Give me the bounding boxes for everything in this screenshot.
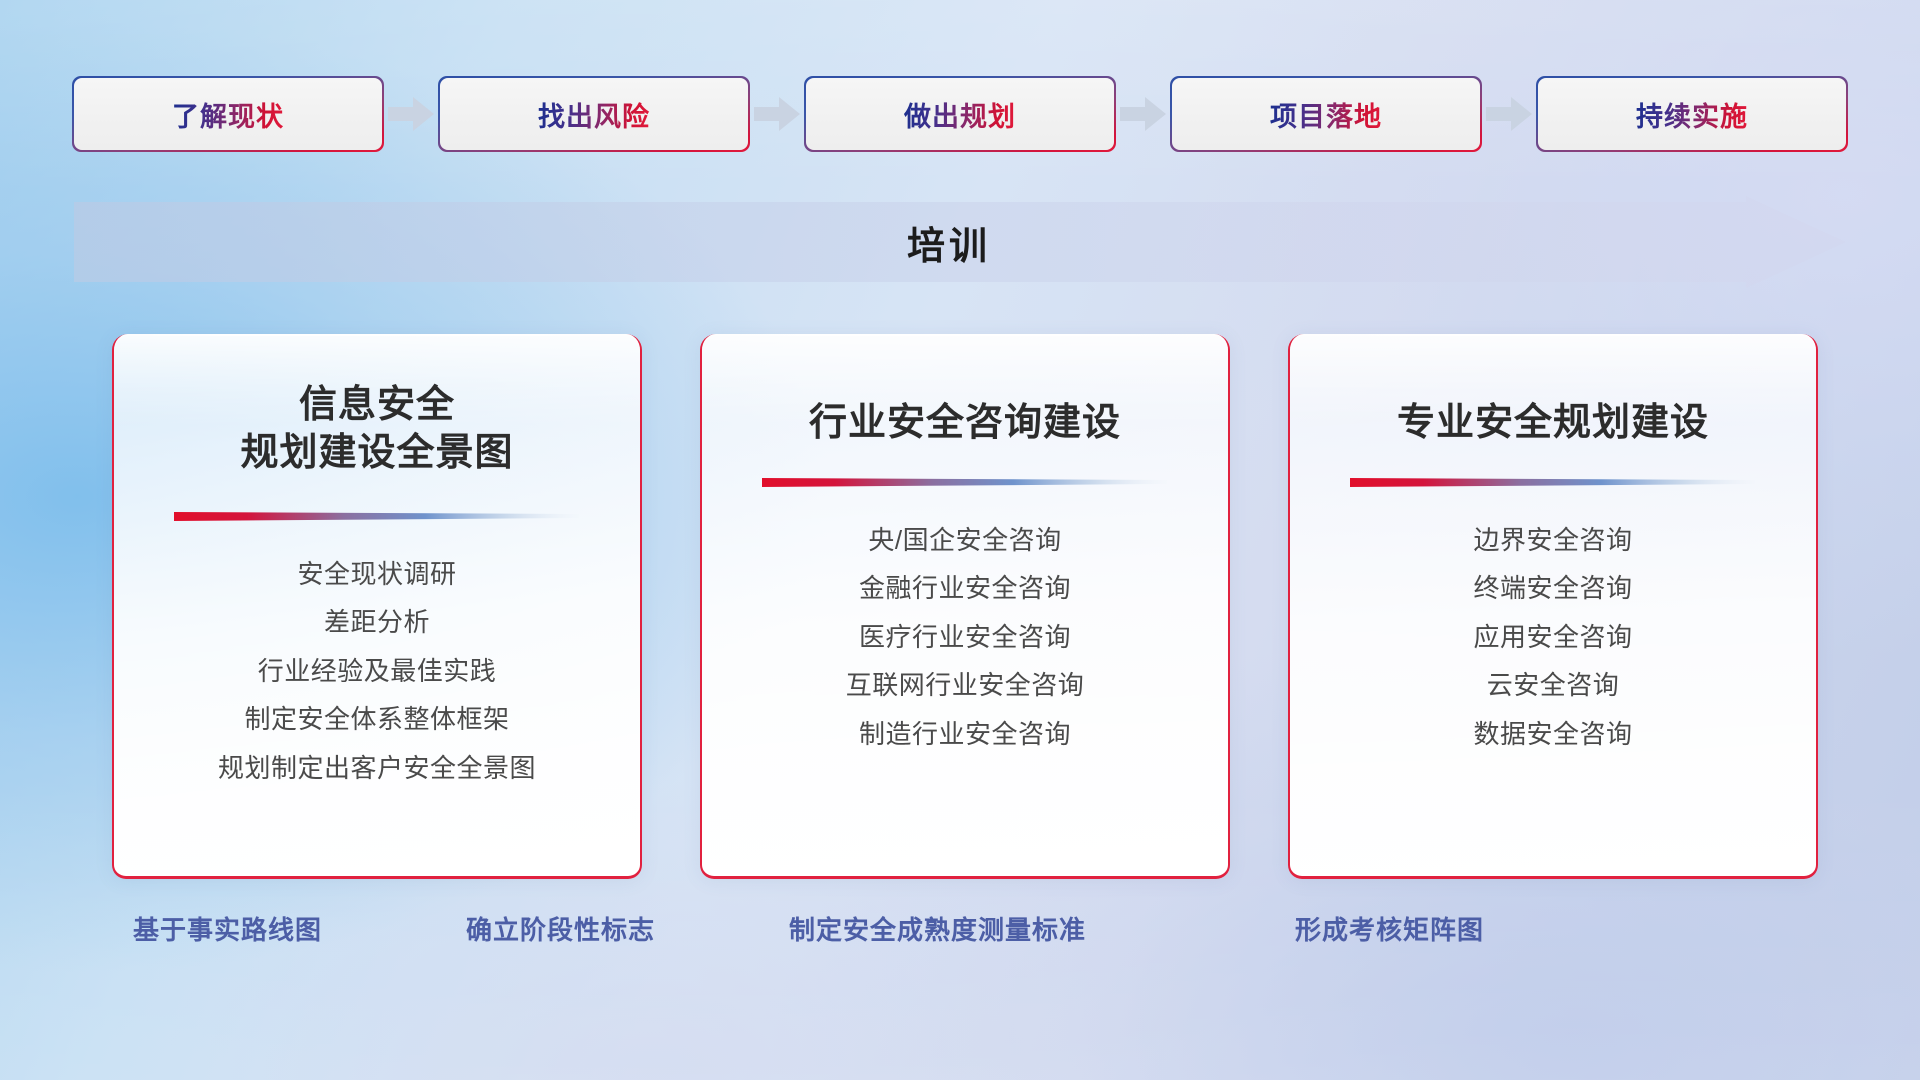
- list-item: 制造行业安全咨询: [859, 718, 1071, 751]
- arrow-right-icon: [1114, 78, 1172, 150]
- list-item: 央/国企安全咨询: [868, 524, 1061, 557]
- card-industry-security-consulting[interactable]: 行业安全咨询建设: [700, 334, 1230, 879]
- arrow-right-icon: [1480, 78, 1538, 150]
- arrow-right-icon: [382, 78, 440, 150]
- process-step-label: 了解现状: [172, 95, 284, 134]
- list-item: 制定安全体系整体框架: [244, 703, 509, 736]
- list-item: 应用安全咨询: [1473, 621, 1632, 654]
- slide-stage: 了解现状 找出风险 做出规划 项目落地: [0, 0, 1920, 1080]
- footer-label-3: 形成考核矩阵图: [1295, 910, 1484, 947]
- process-step-label: 做出规划: [904, 95, 1016, 134]
- card-divider: [762, 476, 1167, 488]
- list-item: 医疗行业安全咨询: [859, 621, 1071, 654]
- card-divider-wrap: [1290, 476, 1816, 488]
- footer-label-row: 基于事实路线图 确立阶段性标志 制定安全成熟度测量标准 形成考核矩阵图: [0, 910, 1920, 970]
- process-step-1[interactable]: 找出风险: [440, 78, 748, 150]
- card-item-list: 央/国企安全咨询 金融行业安全咨询 医疗行业安全咨询 互联网行业安全咨询 制造行…: [702, 524, 1228, 751]
- arrow-right-icon: [748, 78, 806, 150]
- card-divider-wrap: [114, 510, 640, 522]
- card-information-security-blueprint[interactable]: 信息安全 规划建设全景图: [112, 334, 642, 879]
- list-item: 互联网行业安全咨询: [846, 669, 1085, 702]
- list-item: 边界安全咨询: [1473, 524, 1632, 557]
- process-step-2[interactable]: 做出规划: [806, 78, 1114, 150]
- list-item: 金融行业安全咨询: [859, 572, 1071, 605]
- process-step-3[interactable]: 项目落地: [1172, 78, 1480, 150]
- process-step-0[interactable]: 了解现状: [74, 78, 382, 150]
- card-professional-security-planning[interactable]: 专业安全规划建设: [1288, 334, 1818, 879]
- process-step-label: 项目落地: [1270, 95, 1382, 134]
- process-step-4[interactable]: 持续实施: [1538, 78, 1846, 150]
- process-step-label: 持续实施: [1636, 95, 1748, 134]
- list-item: 差距分析: [324, 606, 430, 639]
- process-step-label: 找出风险: [538, 95, 650, 134]
- training-banner: 培训: [74, 196, 1846, 288]
- list-item: 行业经验及最佳实践: [258, 655, 497, 688]
- card-title: 信息安全 规划建设全景图: [114, 334, 640, 478]
- card-title: 行业安全咨询建设: [702, 334, 1228, 448]
- card-divider: [174, 510, 579, 522]
- card-divider: [1350, 476, 1755, 488]
- process-step-row: 了解现状 找出风险 做出规划 项目落地: [74, 78, 1846, 150]
- list-item: 数据安全咨询: [1473, 718, 1632, 751]
- card-item-list: 边界安全咨询 终端安全咨询 应用安全咨询 云安全咨询 数据安全咨询: [1290, 524, 1816, 751]
- card-item-list: 安全现状调研 差距分析 行业经验及最佳实践 制定安全体系整体框架 规划制定出客户…: [114, 558, 640, 785]
- card-title: 专业安全规划建设: [1290, 334, 1816, 448]
- banner-title: 培训: [74, 196, 1846, 288]
- footer-label-2: 制定安全成熟度测量标准: [789, 910, 1086, 947]
- footer-label-0: 基于事实路线图: [133, 910, 322, 947]
- list-item: 云安全咨询: [1487, 669, 1620, 702]
- list-item: 规划制定出客户安全全景图: [218, 752, 536, 785]
- list-item: 终端安全咨询: [1473, 572, 1632, 605]
- cards-row: 信息安全 规划建设全景图: [112, 334, 1818, 879]
- footer-label-1: 确立阶段性标志: [466, 910, 655, 947]
- list-item: 安全现状调研: [297, 558, 456, 591]
- card-divider-wrap: [702, 476, 1228, 488]
